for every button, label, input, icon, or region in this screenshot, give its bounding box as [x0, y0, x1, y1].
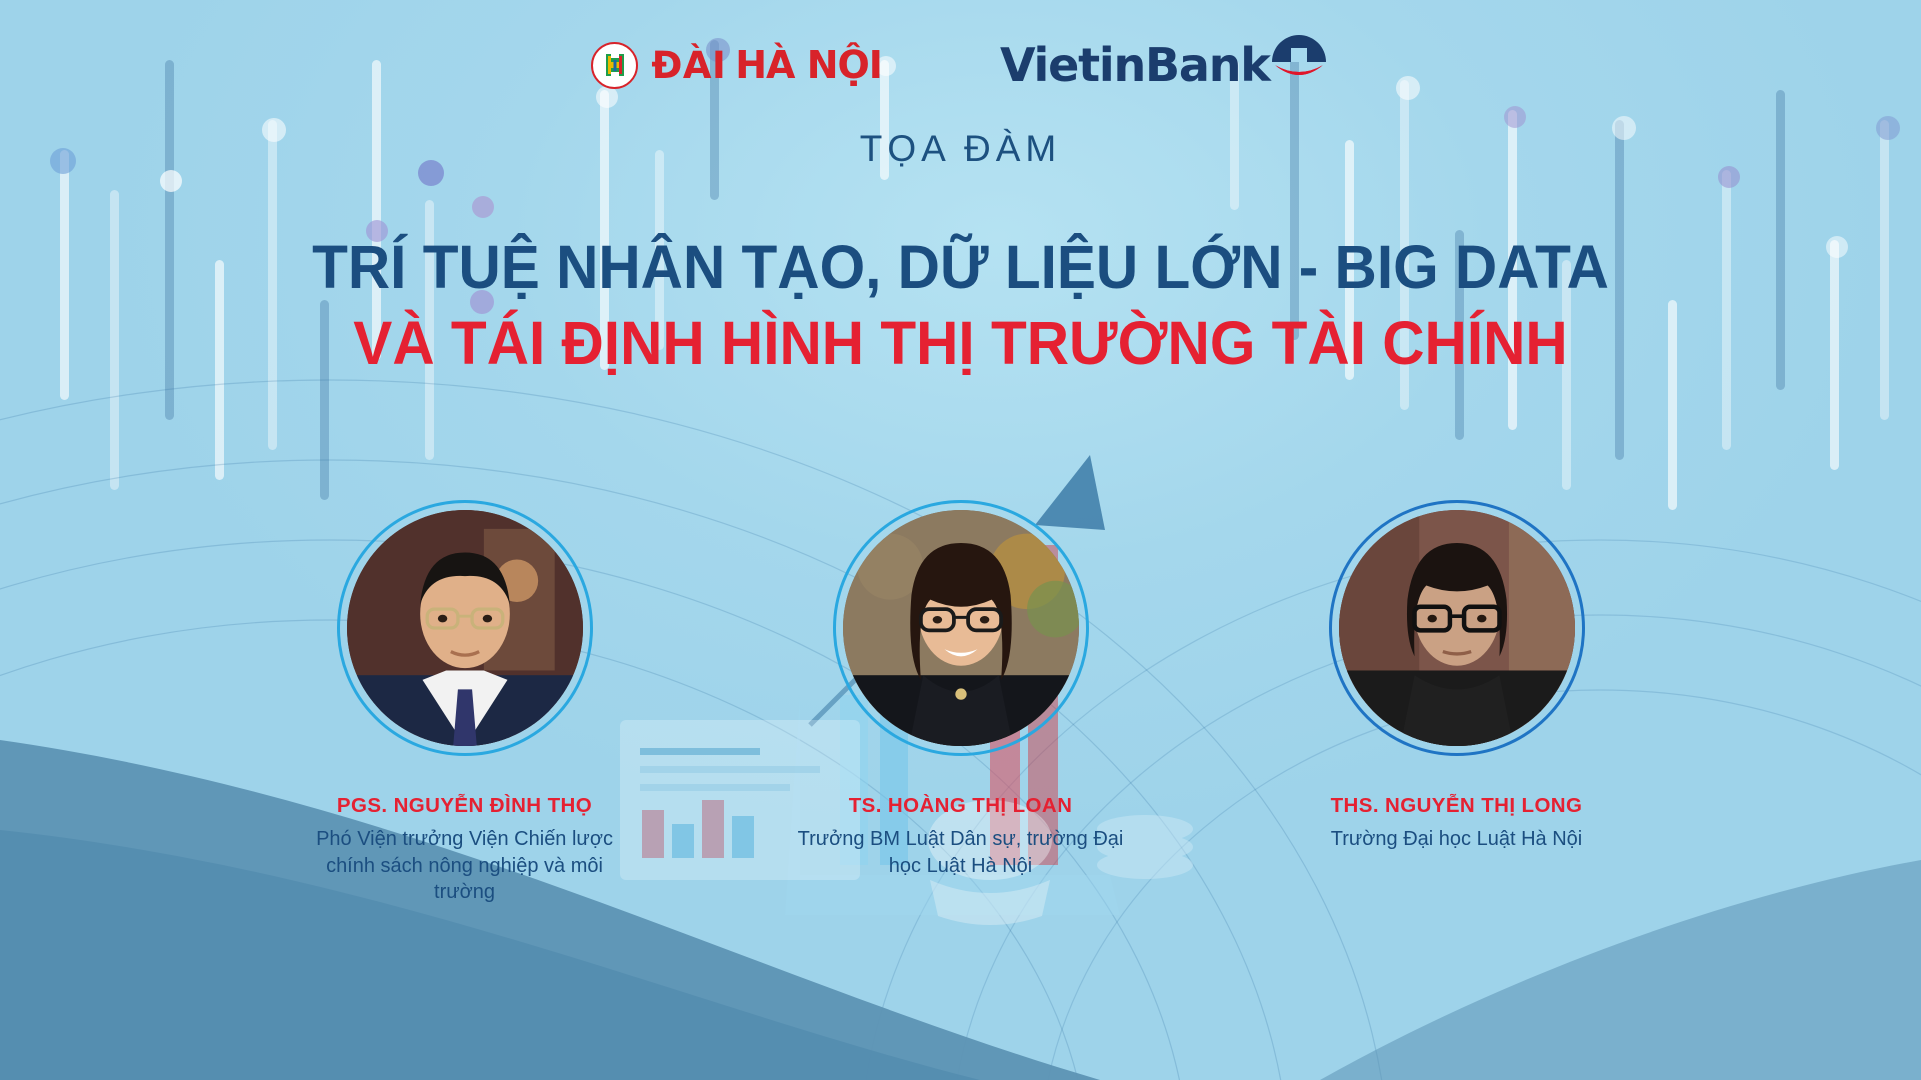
logo-dai-text: ĐÀI [651, 44, 726, 87]
speaker-name: TS. HOÀNG THỊ LOAN [849, 794, 1073, 818]
avatar [347, 510, 583, 746]
avatar-ring [337, 500, 593, 756]
vietinbank-dome-icon [1268, 28, 1330, 86]
speaker-row: PGS. NGUYỄN ĐÌNH THỌ Phó Viện trưởng Việ… [0, 500, 1921, 906]
speaker-role: Trưởng BM Luật Dân sự, trường Đại học Lu… [796, 826, 1126, 879]
ha-noi-seal-icon [591, 42, 638, 89]
logo-vietinbank[interactable]: VietinBank [1000, 38, 1330, 92]
speaker-name: PGS. NGUYỄN ĐÌNH THỌ [337, 794, 592, 818]
speaker-card[interactable]: PGS. NGUYỄN ĐÌNH THỌ Phó Viện trưởng Việ… [250, 500, 680, 906]
logo-row: ĐÀI HÀ NỘI VietinBank [0, 38, 1921, 92]
logo-dai-ha-noi[interactable]: ĐÀI HÀ NỘI [591, 42, 882, 89]
speaker-role: Phó Viện trưởng Viện Chiến lược chính sá… [300, 826, 630, 906]
avatar [1339, 510, 1575, 746]
title-line-1: TRÍ TUỆ NHÂN TẠO, DỮ LIỆU LỚN - BIG DATA [38, 232, 1882, 302]
event-kicker: TỌA ĐÀM [0, 128, 1921, 170]
speaker-name: THS. NGUYỄN THỊ LONG [1331, 794, 1583, 818]
avatar-ring [833, 500, 1089, 756]
vietinbank-wordmark: VietinBank [1000, 38, 1270, 92]
title-line-2: VÀ TÁI ĐỊNH HÌNH THỊ TRƯỜNG TÀI CHÍNH [38, 308, 1882, 378]
avatar [843, 510, 1079, 746]
speaker-role: Trường Đại học Luật Hà Nội [1331, 826, 1582, 853]
avatar-ring [1329, 500, 1585, 756]
banner-canvas: ĐÀI HÀ NỘI VietinBank TỌA ĐÀM TRÍ TUỆ NH… [0, 0, 1921, 1080]
logo-hanoi-text: HÀ NỘI [735, 43, 882, 87]
speaker-card[interactable]: THS. NGUYỄN THỊ LONG Trường Đại học Luật… [1242, 500, 1672, 853]
speaker-card[interactable]: TS. HOÀNG THỊ LOAN Trưởng BM Luật Dân sự… [746, 500, 1176, 879]
